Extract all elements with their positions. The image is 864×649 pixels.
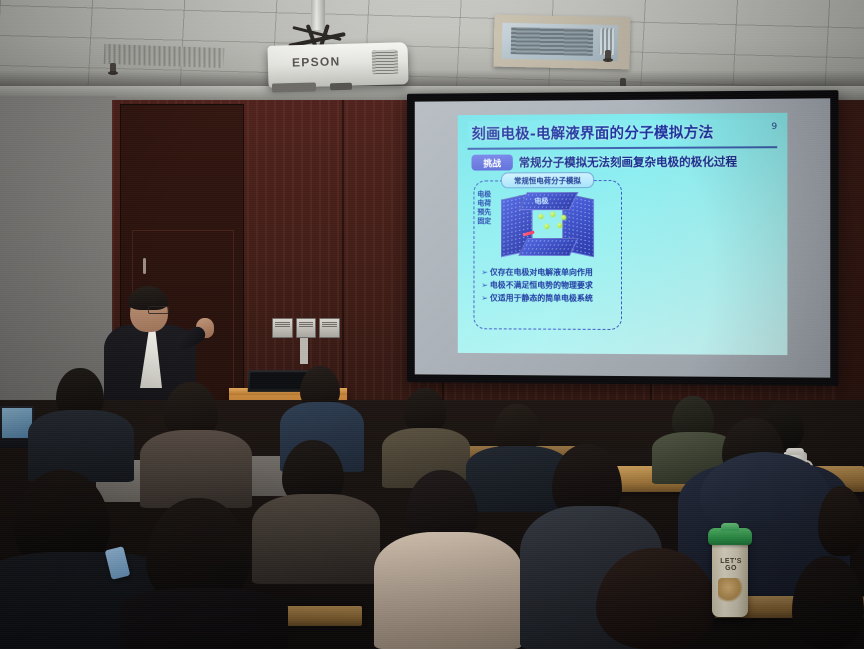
- ceiling-vent-strip: [104, 44, 225, 68]
- lecture-hall-photo: EPSON 刻画电极-电解液界面的分子模拟方法 9 挑战 常: [0, 0, 864, 649]
- projector-brand-label: EPSON: [292, 54, 341, 69]
- bullet-arrow-icon: ➢: [481, 281, 488, 290]
- glasses-icon: [148, 306, 169, 314]
- bullet-text: 电极不满足恒电势的物理要求: [490, 281, 593, 290]
- slide-vertical-annotation: 电极电荷预先固定: [477, 190, 491, 226]
- door-handle[interactable]: [143, 258, 146, 274]
- wall-control-panel-3[interactable]: [319, 318, 340, 338]
- slide-challenge-badge: 挑战: [472, 155, 513, 171]
- projector-foot: [330, 83, 352, 91]
- slide-bullet-list: ➢仅存在电极对电解液单向作用 ➢电极不满足恒电势的物理要求 ➢仅适用于静态的简单…: [481, 266, 612, 305]
- sprinkler-head-right: [605, 50, 611, 60]
- wood-seam-1: [342, 100, 344, 430]
- bullet-text: 仅存在电极对电解液单向作用: [490, 268, 593, 277]
- ion-particle-2: [550, 212, 555, 217]
- audience-body-foreground: [120, 588, 288, 649]
- slide-title-underline: [468, 146, 778, 149]
- audience-body: [252, 494, 380, 584]
- bullet-arrow-icon: ➢: [481, 268, 488, 277]
- slide-title: 刻画电极-电解液界面的分子模拟方法: [472, 121, 714, 143]
- wall-control-panel-1[interactable]: [272, 318, 293, 338]
- travel-mug-label: LET'S GO: [716, 558, 746, 572]
- wall-control-panels[interactable]: [272, 318, 340, 338]
- audience-body: [374, 532, 522, 649]
- audience-body: [28, 410, 134, 482]
- projector-vent-grille: [372, 50, 399, 75]
- list-item: ➢仅存在电极对电解液单向作用: [481, 266, 612, 279]
- bullet-arrow-icon: ➢: [481, 294, 488, 303]
- slide-panel-title-pill: 常规恒电荷分子模拟: [501, 172, 594, 188]
- wall-control-conduit: [300, 338, 308, 364]
- projection-screen-surface: 刻画电极-电解液界面的分子模拟方法 9 挑战 常规分子模拟无法刻画复杂电极的极化…: [415, 98, 830, 377]
- electrode-diagram: 电极: [501, 192, 592, 256]
- travel-mug-lid: [708, 528, 752, 545]
- travel-mug-graphic: [718, 578, 744, 602]
- bullet-text: 仅适用于静态的简单电极系统: [490, 294, 593, 303]
- wall-right-edge: [836, 100, 864, 430]
- ion-particle-1: [539, 214, 544, 219]
- presentation-slide: 刻画电极-电解液界面的分子模拟方法 9 挑战 常规分子模拟无法刻画复杂电极的极化…: [458, 113, 788, 355]
- wall-control-panel-2[interactable]: [296, 318, 317, 338]
- slide-challenge-badge-label: 挑战: [483, 156, 501, 169]
- audience-head: [818, 486, 864, 556]
- projector-lens: [272, 82, 316, 92]
- ion-particle-4: [544, 224, 549, 229]
- audience-body: [140, 430, 252, 508]
- list-item: ➢仅适用于静态的简单电极系统: [481, 292, 612, 305]
- wall-left: [0, 96, 116, 426]
- slide-challenge-statement: 常规分子模拟无法刻画复杂电极的极化过程: [519, 153, 737, 170]
- projection-screen-frame: 刻画电极-电解液界面的分子模拟方法 9 挑战 常规分子模拟无法刻画复杂电极的极化…: [407, 90, 838, 386]
- electrode-diagram-caption: 电极: [535, 196, 549, 206]
- ac-vent-grille: [511, 27, 594, 56]
- ion-particle-5: [557, 223, 562, 228]
- slide-page-number: 9: [771, 122, 777, 132]
- ion-particle-3: [561, 215, 566, 220]
- list-item: ➢电极不满足恒电势的物理要求: [481, 279, 612, 292]
- slide-panel-title-label: 常规恒电荷分子模拟: [514, 175, 581, 186]
